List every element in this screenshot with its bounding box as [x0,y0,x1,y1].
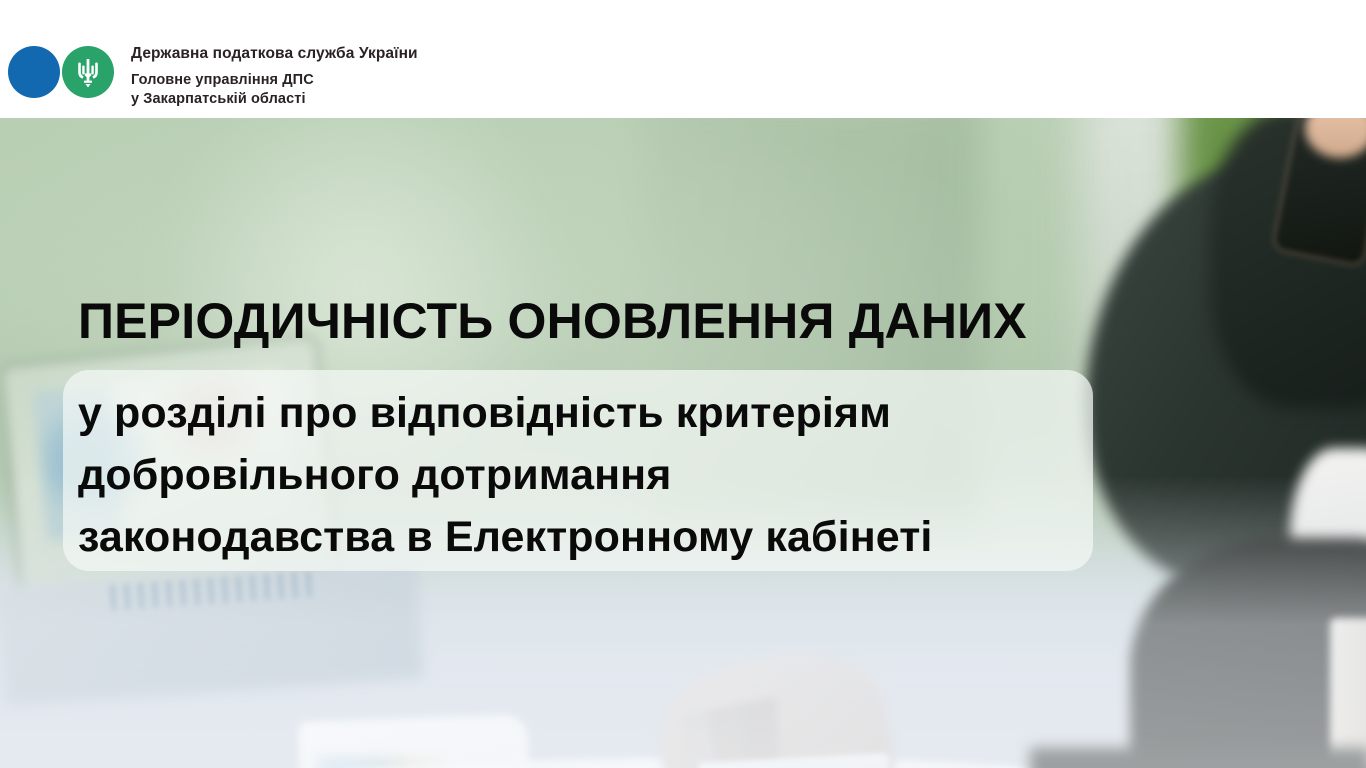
region-name-line: у Закарпатській області [131,90,651,109]
subtitle-line-3: законодавства в Електронному кабінеті [78,506,1088,568]
poster-canvas: Державна податкова служба України Головн… [0,0,1366,768]
agency-name-line: Державна податкова служба України [131,44,651,64]
department-name-line: Головне управління ДПС [131,71,651,90]
banner-headline: ПЕРІОДИЧНІСТЬ ОНОВЛЕННЯ ДАНИХ [78,294,1027,348]
blue-circle-icon [8,46,60,98]
organization-logo [8,46,116,98]
ukraine-trident-icon [75,56,101,88]
subtitle-line-2: добровільного дотримання [78,444,1088,506]
header-bar: Державна податкова служба України Головн… [0,0,1366,118]
coffee-cup [1330,618,1366,768]
banner-subtitle: у розділі про відповідність критеріям до… [78,382,1088,568]
subtitle-line-1: у розділі про відповідність критеріям [78,382,1088,444]
green-circle-icon [62,46,114,98]
organization-name-block: Державна податкова служба України Головн… [131,44,651,109]
person-dark-mass [1030,748,1366,768]
